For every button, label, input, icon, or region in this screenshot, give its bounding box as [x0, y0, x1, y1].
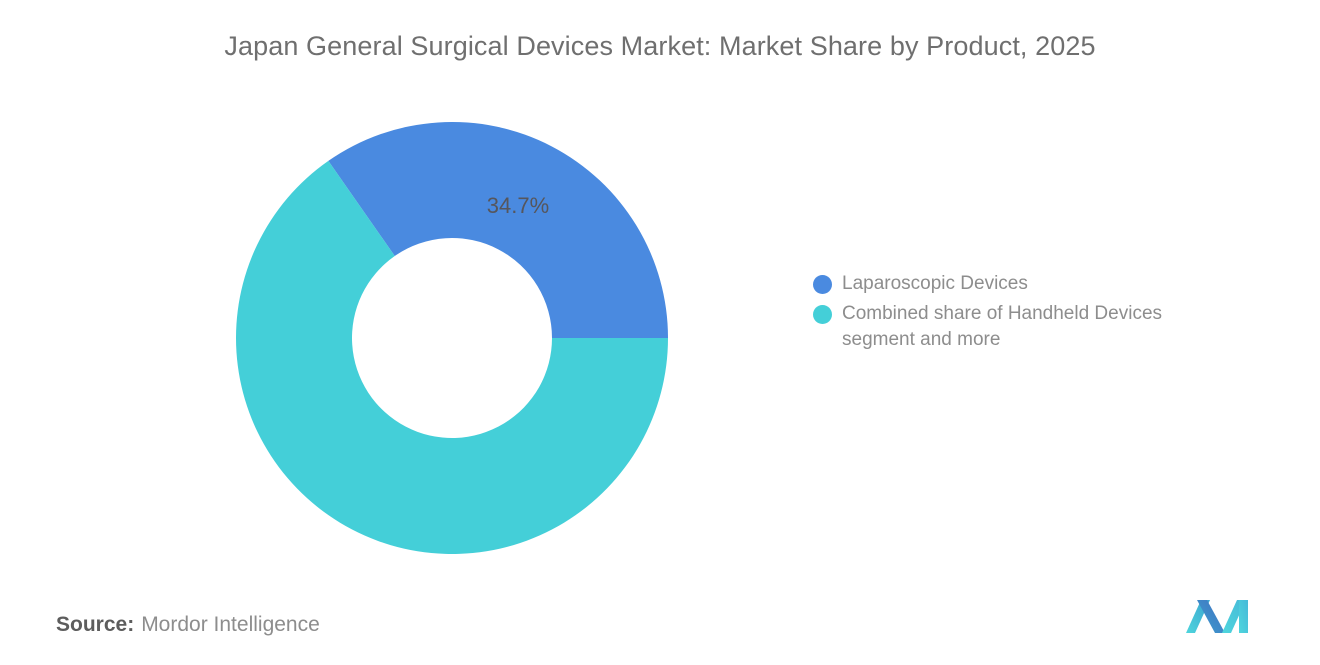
legend-item-combined-share[interactable]: Combined share of Handheld Devices segme…: [813, 301, 1253, 353]
chart-legend: Laparoscopic Devices Combined share of H…: [813, 271, 1253, 357]
donut-chart-svg: [236, 122, 668, 554]
source-value: Mordor Intelligence: [141, 613, 320, 636]
source-label: Source:: [56, 613, 134, 636]
mordor-intelligence-logo-icon: [1184, 598, 1250, 634]
legend-swatch-icon-combined-share: [813, 305, 832, 324]
donut-slice-1[interactable]: [328, 122, 668, 338]
donut-chart: [236, 122, 668, 554]
chart-canvas: Japan General Surgical Devices Market: M…: [0, 0, 1320, 665]
legend-label-combined-share: Combined share of Handheld Devices segme…: [842, 301, 1232, 353]
legend-label-laparoscopic-devices: Laparoscopic Devices: [842, 271, 1028, 297]
legend-item-laparoscopic-devices[interactable]: Laparoscopic Devices: [813, 271, 1253, 297]
source-line: Source:Mordor Intelligence: [56, 611, 320, 639]
legend-swatch-icon-laparoscopic-devices: [813, 275, 832, 294]
donut-slice-group: [236, 122, 668, 554]
page-title: Japan General Surgical Devices Market: M…: [0, 31, 1320, 62]
